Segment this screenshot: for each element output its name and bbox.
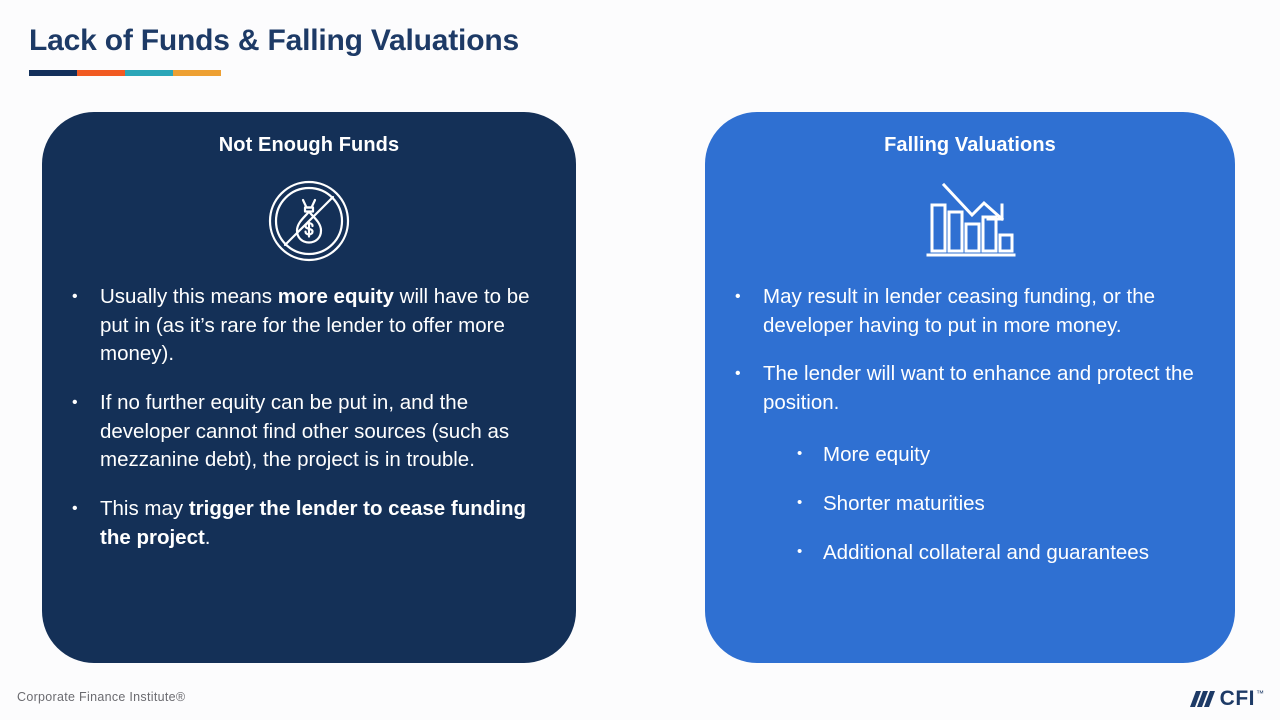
bullet-text: May result in lender ceasing funding, or… — [763, 283, 1213, 340]
footer-copyright: Corporate Finance Institute® — [17, 690, 185, 704]
subbullet-text: More equity — [823, 440, 930, 469]
subbullet-marker: • — [797, 538, 823, 565]
accent-segment-3 — [125, 70, 173, 76]
bullet-text: Usually this means more equity will have… — [100, 283, 554, 369]
cfi-logo-trademark: ™ — [1256, 689, 1264, 698]
bullet-marker: • — [735, 360, 763, 388]
bullet-marker: • — [735, 283, 763, 311]
page-title: Lack of Funds & Falling Valuations — [29, 24, 519, 57]
bullet-item: •The lender will want to enhance and pro… — [735, 360, 1213, 417]
bullet-marker: • — [72, 389, 100, 417]
bullet-item: •May result in lender ceasing funding, o… — [735, 283, 1213, 340]
bullet-item: •If no further equity can be put in, and… — [72, 389, 554, 475]
accent-bar — [29, 70, 221, 76]
subbullet-item: •Shorter maturities — [797, 489, 1235, 518]
bullet-text: This may trigger the lender to cease fun… — [100, 495, 554, 552]
subbullet-list-right: •More equity•Shorter maturities•Addition… — [705, 440, 1235, 587]
card-heading-right: Falling Valuations — [705, 134, 1235, 157]
accent-segment-1 — [29, 70, 77, 76]
cfi-logo-mark-icon — [1190, 688, 1216, 713]
bullet-list-right: •May result in lender ceasing funding, o… — [705, 283, 1235, 438]
subbullet-text: Shorter maturities — [823, 489, 985, 518]
bullet-item: •This may trigger the lender to cease fu… — [72, 495, 554, 552]
bullet-item: •Usually this means more equity will hav… — [72, 283, 554, 369]
bullet-marker: • — [72, 283, 100, 311]
bullet-list-left: •Usually this means more equity will hav… — [42, 283, 576, 573]
card-not-enough-funds: Not Enough Funds •Usually this means mor… — [42, 112, 576, 663]
slide-canvas: Lack of Funds & Falling Valuations Not E… — [0, 0, 1280, 720]
title-block: Lack of Funds & Falling Valuations — [29, 24, 519, 76]
accent-segment-2 — [77, 70, 125, 76]
subbullet-marker: • — [797, 489, 823, 516]
cfi-logo-wordmark: CFI — [1220, 688, 1255, 709]
no-money-bag-icon — [42, 179, 576, 263]
bullet-marker: • — [72, 495, 100, 523]
bullet-text: If no further equity can be put in, and … — [100, 389, 554, 475]
card-heading-left: Not Enough Funds — [42, 134, 576, 157]
subbullet-item: •Additional collateral and guarantees — [797, 538, 1235, 567]
accent-segment-4 — [173, 70, 221, 76]
bullet-text: The lender will want to enhance and prot… — [763, 360, 1213, 417]
subbullet-text: Additional collateral and guarantees — [823, 538, 1149, 567]
subbullet-item: •More equity — [797, 440, 1235, 469]
cfi-logo: CFI ™ — [1190, 688, 1264, 713]
card-falling-valuations: Falling Valuations •May result in lender… — [705, 112, 1235, 663]
declining-bar-chart-icon — [705, 179, 1235, 263]
subbullet-marker: • — [797, 440, 823, 467]
